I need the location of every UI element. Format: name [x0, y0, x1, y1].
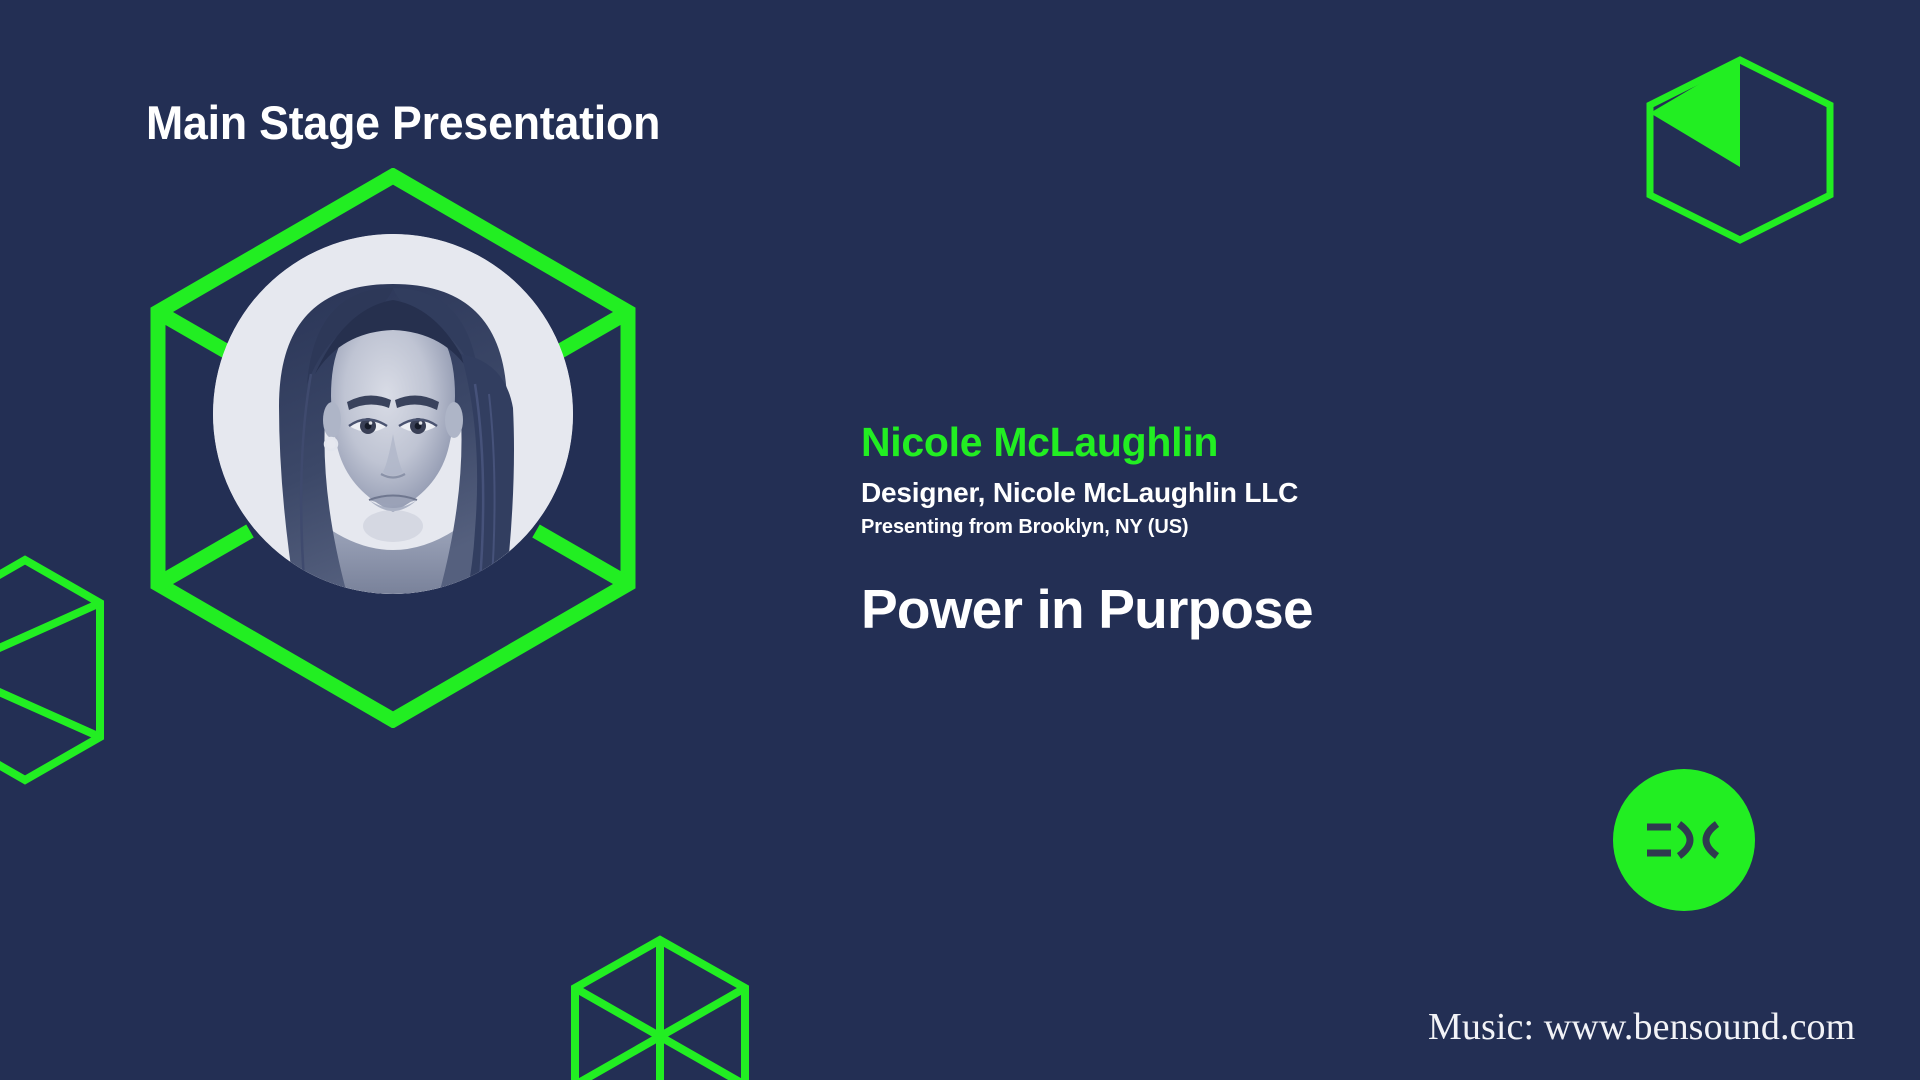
edc-logo-icon	[1613, 769, 1755, 911]
talk-title: Power in Purpose	[861, 579, 1621, 640]
hexagon-top-right-icon	[1640, 55, 1840, 245]
speaker-location: Presenting from Brooklyn, NY (US)	[861, 515, 1621, 539]
speaker-name: Nicole McLaughlin	[861, 420, 1621, 466]
presentation-slide: Main Stage Presentation	[0, 0, 1920, 1080]
music-credit: Music: www.bensound.com	[1428, 1005, 1855, 1049]
hexagon-left-edge-icon	[0, 555, 110, 785]
portrait-image	[213, 234, 573, 594]
edc-logo	[1613, 769, 1755, 911]
avatar	[213, 234, 573, 594]
speaker-info-block: Nicole McLaughlin Designer, Nicole McLau…	[861, 420, 1621, 640]
speaker-role: Designer, Nicole McLaughlin LLC	[861, 477, 1621, 509]
hexagon-bottom-center-icon	[565, 935, 755, 1080]
speaker-portrait-group	[150, 168, 636, 728]
page-title: Main Stage Presentation	[146, 98, 660, 147]
